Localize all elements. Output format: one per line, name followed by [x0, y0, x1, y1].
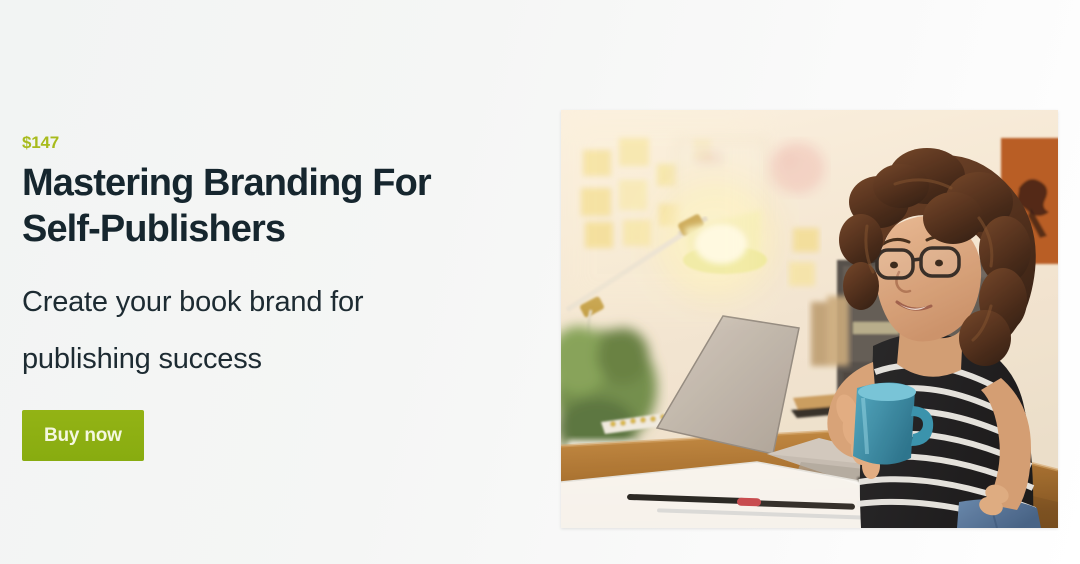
promo-text-column: $147 Mastering Branding For Self-Publish… [22, 132, 522, 461]
buy-now-button[interactable]: Buy now [22, 410, 144, 461]
price-label: $147 [22, 132, 522, 154]
page-title: Mastering Branding For Self-Publishers [22, 160, 482, 252]
course-promo-card: $147 Mastering Branding For Self-Publish… [0, 0, 1080, 564]
course-subtitle: Create your book brand for publishing su… [22, 274, 452, 388]
hero-photo-illustration [561, 110, 1058, 528]
course-hero-image [561, 110, 1058, 528]
